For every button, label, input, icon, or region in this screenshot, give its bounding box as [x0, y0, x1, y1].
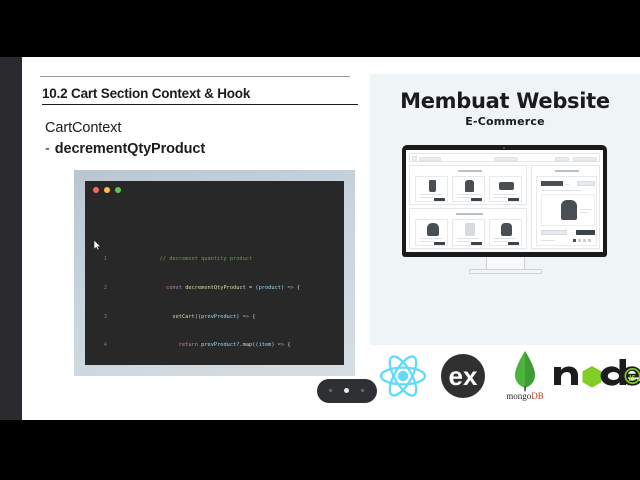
wireframe-product-card: [452, 219, 485, 246]
wireframe-add-button: [434, 242, 445, 245]
capsule-dot-center-icon: [344, 388, 349, 393]
wireframe-product-image: [499, 182, 514, 190]
wireframe-text-line: [494, 194, 516, 195]
wireframe-product-card: [489, 219, 522, 246]
mongodb-wordmark: mongoDB: [494, 391, 556, 401]
monitor-screen: [406, 150, 603, 252]
nodejs-wordmark-icon: js: [550, 345, 640, 407]
wireframe-menu-icon: [412, 156, 417, 161]
wireframe-product-grid-panel: [409, 165, 527, 205]
capsule-dot-left-icon: [329, 389, 332, 392]
wireframe-text-line: [420, 241, 434, 242]
wireframe-product-card: [415, 219, 448, 246]
wireframe-text-line: [541, 240, 555, 241]
wireframe-product-image: [501, 223, 512, 236]
title-divider-rule: [40, 76, 350, 77]
wireframe-text-line: [420, 197, 434, 198]
wireframe-text-line: [494, 238, 516, 239]
monitor-stand-base: [469, 269, 542, 274]
wireframe-add-button: [471, 242, 482, 245]
wireframe-product-card: [452, 176, 485, 202]
wireframe-product-card: [489, 176, 522, 202]
monitor-bezel: [402, 145, 607, 257]
wireframe-text-line: [580, 212, 588, 213]
code-content[interactable]: 1// decrement quantity product 2 const d…: [85, 197, 344, 365]
wireframe-product-card: [415, 176, 448, 202]
nodejs-js-label: js: [628, 373, 636, 382]
code-window-titlebar: [85, 181, 344, 197]
react-logo: [372, 345, 434, 415]
wireframe-pager-dot: [578, 239, 581, 242]
wireframe-product-image: [427, 223, 439, 236]
wireframe-detail-title: [541, 181, 563, 186]
mongodb-word-mongo: mongo: [506, 391, 531, 401]
wireframe-detail-image-box: [541, 194, 595, 226]
wireframe-text-line: [420, 194, 442, 195]
video-player-frame: 10.2 Cart Section Context & Hook CartCon…: [0, 0, 640, 480]
mouse-cursor-icon: [94, 240, 101, 250]
wireframe-pager-dot: [583, 239, 586, 242]
wireframe-text-line: [494, 241, 508, 242]
wireframe-panel-caption: [458, 170, 482, 172]
code-line: 2 const decrementQtyProduct = (product) …: [85, 274, 344, 284]
wireframe-panel-caption: [456, 213, 483, 215]
wireframe-detail-panel: [531, 165, 600, 249]
wireframe-nav-chip-2: [573, 157, 597, 161]
close-dot-icon[interactable]: [93, 187, 99, 193]
wireframe-detail-card: [536, 176, 597, 246]
left-edge-strip: [0, 57, 22, 420]
letterbox-top: [0, 0, 640, 57]
line-number: 1: [85, 255, 107, 265]
wireframe-nav-chip-1: [555, 157, 569, 161]
wireframe-collection-panel: [409, 208, 527, 249]
line-number: 3: [85, 313, 107, 323]
express-label: ex: [449, 361, 478, 391]
wireframe-text-line: [457, 241, 471, 242]
mongodb-leaf-icon: [494, 345, 556, 395]
wireframe-text-line: [494, 197, 508, 198]
context-summary: CartContext -decrementQtyProduct: [45, 119, 205, 159]
wireframe-pager-dot: [573, 239, 576, 242]
presenter-capsule-graphic: [317, 379, 377, 403]
wireframe-text-line: [457, 238, 479, 239]
wireframe-product-image: [561, 200, 577, 220]
method-bullet-dash: -: [45, 141, 50, 157]
page-title: 10.2 Cart Section Context & Hook: [42, 86, 358, 105]
code-screenshot-frame: 1// decrement quantity product 2 const d…: [74, 170, 355, 376]
wireframe-product-image: [465, 223, 475, 236]
react-atom-icon: [372, 345, 434, 407]
wireframe-add-button: [434, 198, 445, 201]
line-number: 4: [85, 341, 107, 351]
wireframe-product-image: [465, 180, 474, 192]
letterbox-bottom: [0, 420, 640, 480]
slide-stage: 10.2 Cart Section Context & Hook CartCon…: [0, 57, 640, 420]
wireframe-checkout-button: [576, 230, 595, 235]
brand-subtitle: E-Commerce: [370, 115, 640, 128]
wireframe-title-chip: [494, 157, 518, 161]
method-line: -decrementQtyProduct: [45, 140, 205, 160]
code-line: 3 setCart((prevProduct) => {: [85, 303, 344, 313]
branding-panel: Membuat Website E-Commerce: [370, 74, 640, 345]
capsule-dot-right-icon: [361, 389, 364, 392]
context-name-label: CartContext: [45, 119, 205, 139]
code-line: 4 return prevProduct?.map((item) => {: [85, 332, 344, 342]
method-name-label: decrementQtyProduct: [55, 141, 205, 157]
monitor-camera-icon: [503, 147, 505, 149]
code-line: 5 if (item._id === product._id) {: [85, 360, 344, 365]
wireframe-text-line: [457, 197, 471, 198]
tech-stack-logos: ex mongoDB: [370, 345, 640, 415]
wireframe-logo: [419, 157, 441, 161]
wireframe-text-line: [565, 184, 569, 185]
wireframe-text-line: [541, 190, 581, 191]
express-circle-icon: ex: [432, 345, 494, 407]
wireframe-cart-button: [577, 181, 595, 186]
line-number: 2: [85, 284, 107, 294]
wireframe-add-button: [508, 242, 519, 245]
wireframe-text-line: [420, 238, 442, 239]
maximize-dot-icon[interactable]: [115, 187, 121, 193]
mongodb-word-db: DB: [531, 391, 544, 401]
left-content-panel: 10.2 Cart Section Context & Hook CartCon…: [22, 57, 370, 420]
wireframe-text-line: [457, 194, 479, 195]
wireframe-quantity-field: [541, 230, 567, 235]
code-editor-window: 1// decrement quantity product 2 const d…: [85, 181, 344, 365]
desktop-monitor-mockup: [402, 145, 607, 265]
wireframe-pager-dot: [588, 239, 591, 242]
minimize-dot-icon[interactable]: [104, 187, 110, 193]
brand-title: Membuat Website: [370, 89, 640, 113]
mongodb-logo: mongoDB: [494, 345, 556, 415]
wireframe-product-image: [429, 180, 436, 192]
wireframe-add-button: [508, 198, 519, 201]
wireframe-topbar: [409, 153, 600, 162]
wireframe-add-button: [471, 198, 482, 201]
express-logo: ex: [432, 345, 494, 415]
wireframe-text-line: [580, 209, 592, 210]
code-line: 1// decrement quantity product: [85, 246, 344, 256]
nodejs-logo: js: [550, 345, 640, 415]
wireframe-panel-caption: [555, 170, 579, 172]
